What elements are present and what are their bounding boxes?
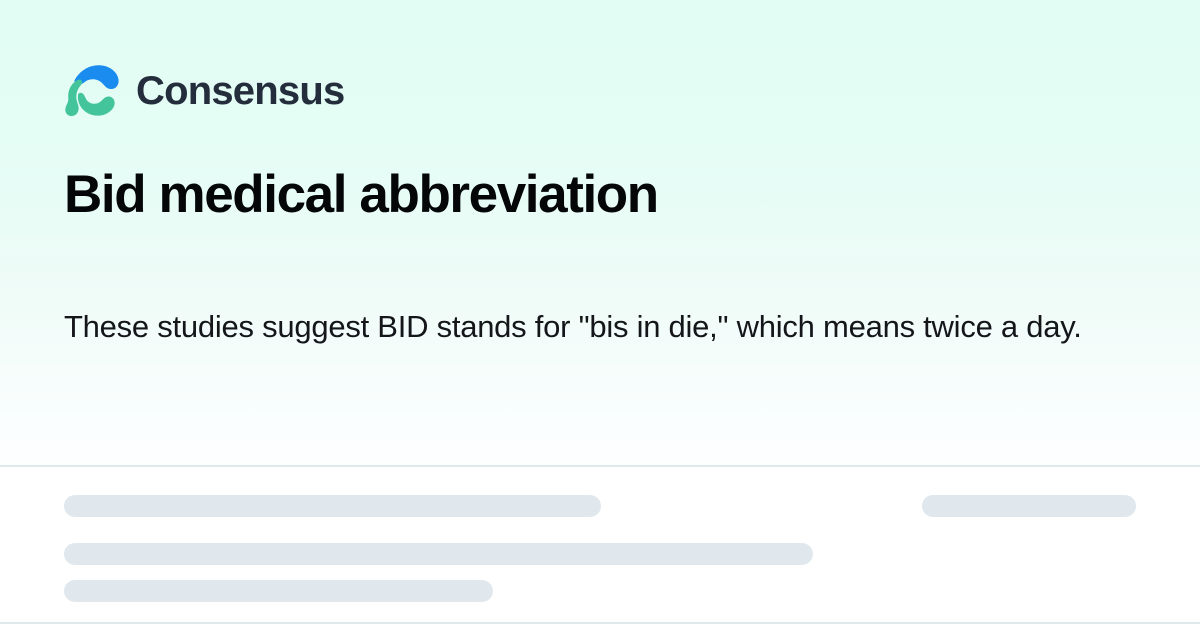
skeleton-bar bbox=[64, 543, 813, 565]
brand-logo[interactable]: Consensus bbox=[64, 60, 344, 122]
og-preview-card: Consensus Bid medical abbreviation These… bbox=[0, 0, 1200, 630]
hero-section: Consensus Bid medical abbreviation These… bbox=[0, 0, 1200, 465]
skeleton-bar bbox=[64, 580, 493, 602]
footer-divider bbox=[0, 622, 1200, 624]
answer-summary: These studies suggest BID stands for "bi… bbox=[64, 300, 1084, 354]
skeleton-bar bbox=[64, 495, 601, 517]
consensus-c-logo-icon bbox=[64, 61, 121, 121]
results-skeleton bbox=[0, 467, 1200, 630]
page-title: Bid medical abbreviation bbox=[64, 165, 1124, 224]
skeleton-bar bbox=[922, 495, 1136, 517]
brand-name: Consensus bbox=[136, 71, 344, 111]
